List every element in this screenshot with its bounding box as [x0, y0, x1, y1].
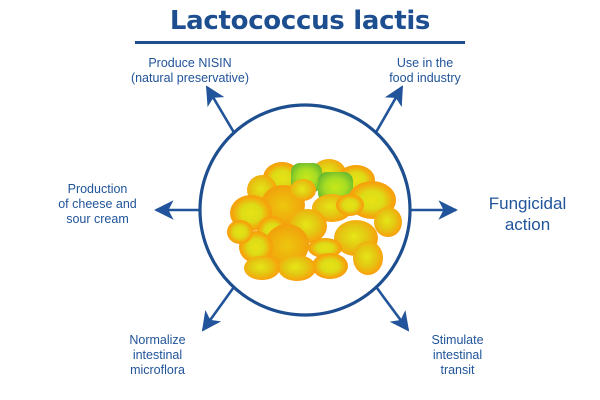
diagram-canvas: Lactococcus lactis — [0, 0, 600, 400]
label-fungicidal-action: Fungicidal action — [465, 193, 590, 235]
label-stimulate-transit: Stimulate intestinal transit — [395, 333, 520, 378]
cell — [374, 207, 402, 237]
label-normalize-microflora: Normalize intestinal microflora — [95, 333, 220, 378]
cell — [278, 255, 316, 281]
cell — [227, 220, 253, 244]
label-use-food-industry: Use in the food industry — [350, 56, 500, 86]
label-production-cheese: Production of cheese and sour cream — [35, 182, 160, 227]
label-produce-nisin: Produce NISIN (natural preservative) — [90, 56, 290, 86]
cell — [244, 256, 280, 280]
cell — [353, 241, 383, 275]
cell — [336, 194, 364, 216]
cell — [312, 253, 348, 279]
cell — [290, 179, 316, 201]
